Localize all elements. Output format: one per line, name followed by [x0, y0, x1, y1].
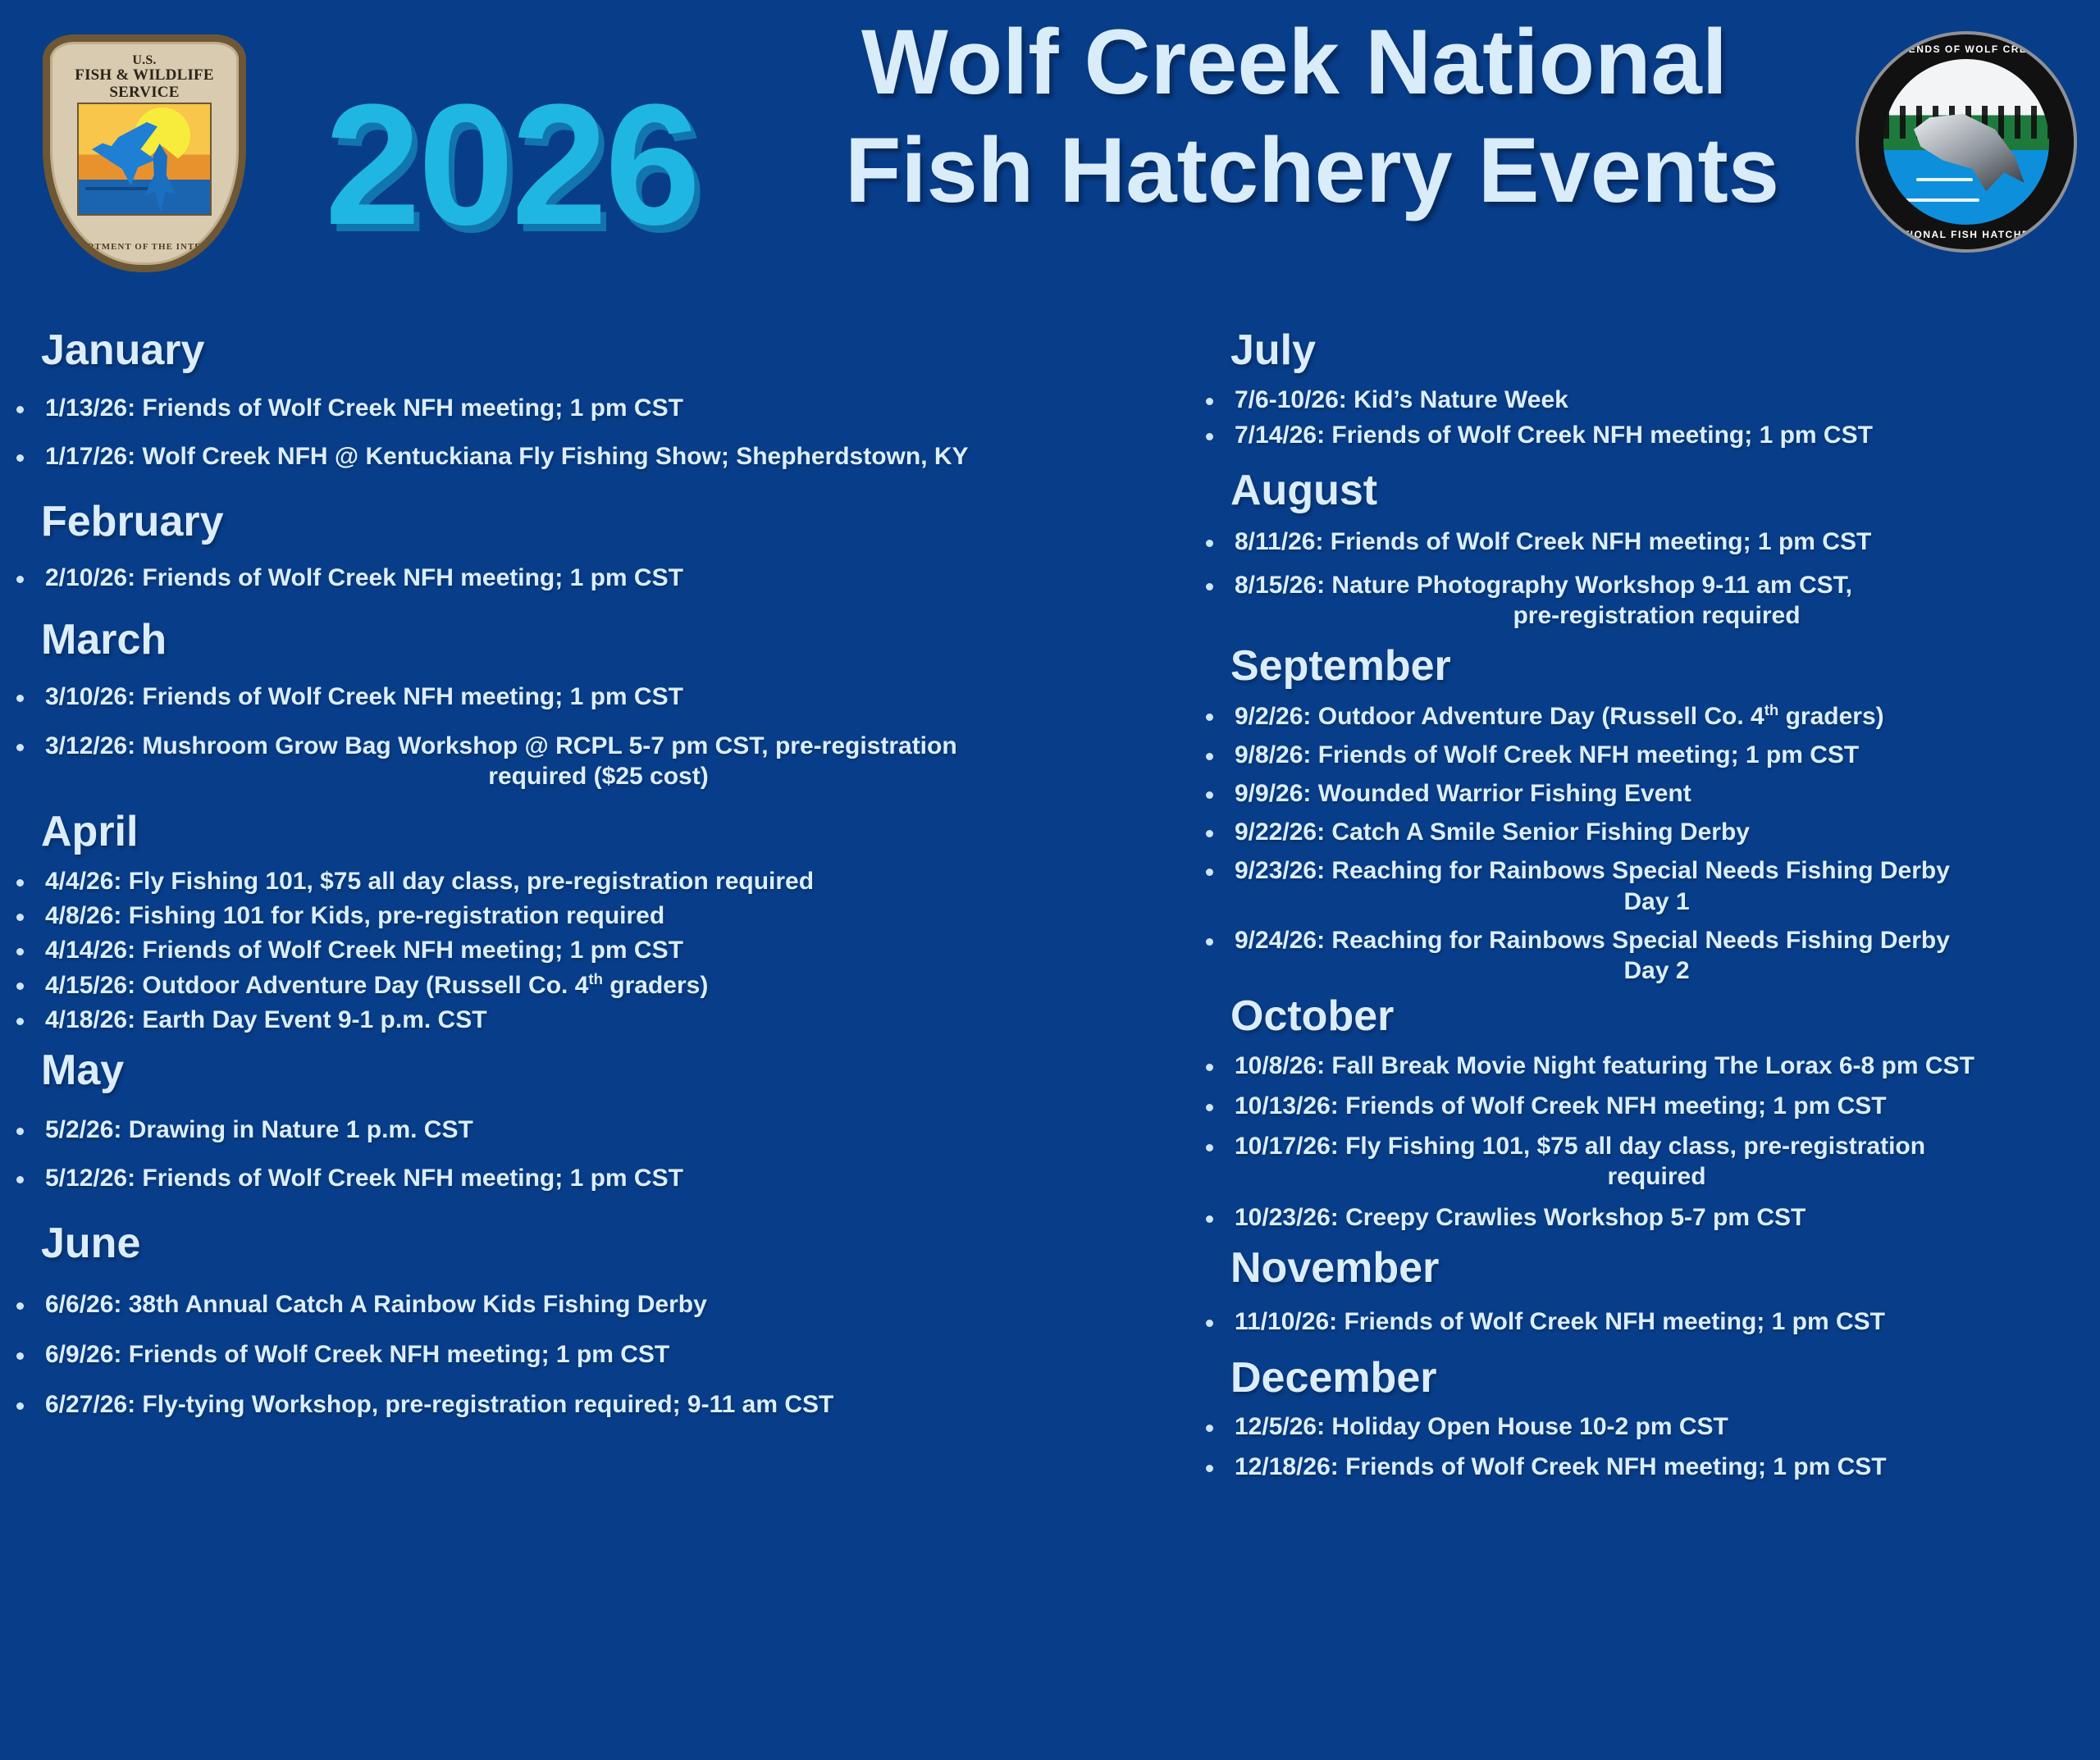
event-item[interactable]: 10/13/26: Friends of Wolf Creek NFH meet…	[1189, 1091, 2100, 1121]
event-text: 4/15/26: Outdoor Adventure Day (Russell …	[45, 972, 588, 999]
month-section-april: April4/4/26: Fly Fishing 101, $75 all da…	[0, 809, 1173, 1036]
month-heading-august: August	[1189, 468, 2100, 513]
event-item[interactable]: 6/9/26: Friends of Wolf Creek NFH meetin…	[0, 1339, 1173, 1370]
event-text: 1/13/26: Friends of Wolf Creek NFH meeti…	[45, 394, 683, 422]
event-list-july: 7/6-10/26: Kid’s Nature Week7/14/26: Fri…	[1189, 385, 2100, 450]
event-text: 10/8/26: Fall Break Movie Night featurin…	[1235, 1052, 1974, 1079]
events-column-right: July7/6-10/26: Kid’s Nature Week7/14/26:…	[1189, 328, 2100, 1493]
event-text: 4/18/26: Earth Day Event 9-1 p.m. CST	[45, 1006, 487, 1033]
event-text: 10/17/26: Fly Fishing 101, $75 all day c…	[1235, 1133, 1925, 1160]
event-list-october: 10/8/26: Fall Break Movie Night featurin…	[1189, 1051, 2100, 1233]
event-text: 4/8/26: Fishing 101 for Kids, pre-regist…	[45, 902, 664, 929]
event-item[interactable]: 7/6-10/26: Kid’s Nature Week	[1189, 385, 2100, 415]
fowc-logo-top-text: FRIENDS OF WOLF CREEK	[1859, 43, 2074, 55]
fws-logo-line1: U.S.	[50, 53, 239, 67]
event-text: 5/12/26: Friends of Wolf Creek NFH meeti…	[45, 1165, 683, 1192]
us-fish-and-wildlife-service-logo: U.S. FISH & WILDLIFE SERVICE DEPARTMENT …	[43, 34, 246, 272]
event-text: 11/10/26: Friends of Wolf Creek NFH meet…	[1235, 1308, 1885, 1335]
event-text: 6/9/26: Friends of Wolf Creek NFH meetin…	[45, 1341, 669, 1368]
event-item[interactable]: 8/11/26: Friends of Wolf Creek NFH meeti…	[1189, 527, 2100, 557]
event-list-september: 9/2/26: Outdoor Adventure Day (Russell C…	[1189, 700, 2100, 987]
event-item[interactable]: 9/22/26: Catch A Smile Senior Fishing De…	[1189, 817, 2100, 847]
month-heading-june: June	[0, 1221, 1173, 1266]
month-section-july: July7/6-10/26: Kid’s Nature Week7/14/26:…	[1189, 328, 2100, 450]
poster-header: U.S. FISH & WILDLIFE SERVICE DEPARTMENT …	[0, 0, 2100, 320]
event-item[interactable]: 9/8/26: Friends of Wolf Creek NFH meetin…	[1189, 740, 2100, 770]
event-text: 2/10/26: Friends of Wolf Creek NFH meeti…	[45, 564, 683, 591]
month-heading-november: November	[1189, 1246, 2100, 1291]
event-text-continuation: required	[1235, 1161, 2100, 1192]
ordinal-suffix: th	[1764, 701, 1779, 718]
event-item[interactable]: 1/13/26: Friends of Wolf Creek NFH meeti…	[0, 393, 1173, 423]
event-item[interactable]: 4/8/26: Fishing 101 for Kids, pre-regist…	[0, 901, 1173, 931]
event-text-continuation: Day 2	[1235, 955, 2100, 986]
month-section-june: June6/6/26: 38th Annual Catch A Rainbow …	[0, 1221, 1173, 1420]
event-text: 9/23/26: Reaching for Rainbows Special N…	[1235, 857, 1950, 884]
event-item[interactable]: 6/27/26: Fly-tying Workshop, pre-registr…	[0, 1389, 1173, 1420]
event-item[interactable]: 2/10/26: Friends of Wolf Creek NFH meeti…	[0, 563, 1173, 593]
event-item[interactable]: 10/8/26: Fall Break Movie Night featurin…	[1189, 1051, 2100, 1081]
event-list-may: 5/2/26: Drawing in Nature 1 p.m. CST5/12…	[0, 1115, 1173, 1193]
month-heading-december: December	[1189, 1356, 2100, 1401]
event-item[interactable]: 9/23/26: Reaching for Rainbows Special N…	[1189, 855, 2100, 916]
event-list-february: 2/10/26: Friends of Wolf Creek NFH meeti…	[0, 563, 1173, 593]
events-body: January1/13/26: Friends of Wolf Creek NF…	[0, 328, 2100, 1760]
event-list-august: 8/11/26: Friends of Wolf Creek NFH meeti…	[1189, 527, 2100, 632]
event-item[interactable]: 3/12/26: Mushroom Grow Bag Workshop @ RC…	[0, 731, 1173, 791]
fowc-logo-bottom-text: NATIONAL FISH HATCHERY	[1859, 229, 2074, 240]
month-section-may: May 5/2/26: Drawing in Nature 1 p.m. CST…	[0, 1048, 1173, 1193]
event-text: 4/14/26: Friends of Wolf Creek NFH meeti…	[45, 937, 683, 964]
event-item[interactable]: 4/15/26: Outdoor Adventure Day (Russell …	[0, 969, 1173, 1001]
event-text: 9/22/26: Catch A Smile Senior Fishing De…	[1235, 818, 1750, 846]
month-section-november: November 11/10/26: Friends of Wolf Creek…	[1189, 1246, 2100, 1338]
event-item[interactable]: 3/10/26: Friends of Wolf Creek NFH meeti…	[0, 682, 1173, 712]
year-heading: 2026	[325, 79, 698, 251]
event-text: 12/5/26: Holiday Open House 10-2 pm CST	[1235, 1413, 1728, 1440]
event-item[interactable]: 10/23/26: Creepy Crawlies Workshop 5-7 p…	[1189, 1202, 2100, 1233]
event-text: 10/23/26: Creepy Crawlies Workshop 5-7 p…	[1235, 1204, 1806, 1231]
event-list-november: 11/10/26: Friends of Wolf Creek NFH meet…	[1189, 1306, 2100, 1337]
event-item[interactable]: 6/6/26: 38th Annual Catch A Rainbow Kids…	[0, 1289, 1173, 1320]
event-text-tail: graders)	[603, 972, 708, 999]
month-heading-january: January	[0, 328, 1173, 373]
wave-icon	[1903, 198, 1979, 202]
event-text-continuation: Day 1	[1235, 887, 2100, 917]
event-item[interactable]: 4/4/26: Fly Fishing 101, $75 all day cla…	[0, 866, 1173, 896]
event-text: 6/6/26: 38th Annual Catch A Rainbow Kids…	[45, 1291, 707, 1318]
page-title: Wolf Creek National Fish Hatchery Events	[845, 8, 1854, 225]
events-column-left: January1/13/26: Friends of Wolf Creek NF…	[0, 328, 1173, 1440]
month-heading-february: February	[0, 499, 1173, 545]
month-heading-july: July	[1189, 328, 2100, 373]
month-section-january: January1/13/26: Friends of Wolf Creek NF…	[0, 328, 1173, 472]
event-text: 7/14/26: Friends of Wolf Creek NFH meeti…	[1235, 422, 1873, 449]
shield-icon: U.S. FISH & WILDLIFE SERVICE DEPARTMENT …	[43, 34, 246, 272]
ordinal-suffix: th	[588, 970, 603, 987]
event-list-april: 4/4/26: Fly Fishing 101, $75 all day cla…	[0, 866, 1173, 1036]
seal-ring: FRIENDS OF WOLF CREEK NATIONAL FISH HATC…	[1856, 31, 2077, 253]
event-text-tail: graders)	[1778, 703, 1883, 730]
event-item[interactable]: 9/24/26: Reaching for Rainbows Special N…	[1189, 925, 2100, 986]
event-text: 8/11/26: Friends of Wolf Creek NFH meeti…	[1235, 528, 1871, 555]
event-item[interactable]: 5/2/26: Drawing in Nature 1 p.m. CST	[0, 1115, 1173, 1145]
month-heading-march: March	[0, 618, 1173, 663]
event-item[interactable]: 4/14/26: Friends of Wolf Creek NFH meeti…	[0, 935, 1173, 965]
event-text: 4/4/26: Fly Fishing 101, $75 all day cla…	[45, 868, 814, 895]
month-section-march: March3/10/26: Friends of Wolf Creek NFH …	[0, 618, 1173, 791]
fws-logo-line3: SERVICE	[50, 84, 239, 102]
month-heading-may: May	[0, 1048, 1173, 1093]
event-text: 9/24/26: Reaching for Rainbows Special N…	[1235, 927, 1950, 954]
event-list-june: 6/6/26: 38th Annual Catch A Rainbow Kids…	[0, 1289, 1173, 1420]
month-section-december: December 12/5/26: Holiday Open House 10-…	[1189, 1356, 2100, 1483]
event-text: 12/18/26: Friends of Wolf Creek NFH meet…	[1235, 1453, 1887, 1480]
event-text: 10/13/26: Friends of Wolf Creek NFH meet…	[1235, 1092, 1887, 1119]
seal-scene	[1883, 59, 2049, 225]
month-section-august: August8/11/26: Friends of Wolf Creek NFH…	[1189, 468, 2100, 631]
event-list-march: 3/10/26: Friends of Wolf Creek NFH meeti…	[0, 682, 1173, 791]
event-item[interactable]: 12/18/26: Friends of Wolf Creek NFH meet…	[1189, 1452, 2100, 1482]
event-text: 9/9/26: Wounded Warrior Fishing Event	[1235, 780, 1691, 807]
event-item[interactable]: 11/10/26: Friends of Wolf Creek NFH meet…	[1189, 1306, 2100, 1337]
event-text: 3/10/26: Friends of Wolf Creek NFH meeti…	[45, 683, 683, 710]
page-title-line1: Wolf Creek National	[845, 8, 1854, 116]
event-item[interactable]: 8/15/26: Nature Photography Workshop 9-1…	[1189, 570, 2100, 631]
month-section-september: September9/2/26: Outdoor Adventure Day (…	[1189, 644, 2100, 986]
friends-of-wolf-creek-nfh-logo: FRIENDS OF WOLF CREEK NATIONAL FISH HATC…	[1856, 31, 2077, 253]
fws-landscape-scene	[77, 103, 212, 216]
event-text: 1/17/26: Wolf Creek NFH @ Kentuckiana Fl…	[45, 443, 969, 470]
event-item[interactable]: 9/2/26: Outdoor Adventure Day (Russell C…	[1189, 700, 2100, 732]
event-text-continuation: required ($25 cost)	[45, 761, 1173, 791]
water-icon	[79, 180, 210, 214]
month-section-february: February2/10/26: Friends of Wolf Creek N…	[0, 499, 1173, 593]
event-item[interactable]: 9/9/26: Wounded Warrior Fishing Event	[1189, 778, 2100, 809]
event-item[interactable]: 1/17/26: Wolf Creek NFH @ Kentuckiana Fl…	[0, 441, 1173, 472]
event-text-continuation: pre-registration required	[1235, 600, 2100, 631]
fws-logo-line2: FISH & WILDLIFE	[50, 67, 239, 84]
event-text: 5/2/26: Drawing in Nature 1 p.m. CST	[45, 1116, 473, 1143]
event-item[interactable]: 10/17/26: Fly Fishing 101, $75 all day c…	[1189, 1131, 2100, 1192]
fws-logo-bottom-text: DEPARTMENT OF THE INTERIOR	[50, 242, 239, 252]
month-heading-october: October	[1189, 994, 2100, 1039]
event-text: 6/27/26: Fly-tying Workshop, pre-registr…	[45, 1391, 833, 1418]
event-text: 7/6-10/26: Kid’s Nature Week	[1235, 386, 1568, 413]
event-item[interactable]: 7/14/26: Friends of Wolf Creek NFH meeti…	[1189, 420, 2100, 450]
fws-logo-text: U.S. FISH & WILDLIFE SERVICE	[50, 53, 239, 101]
event-item[interactable]: 5/12/26: Friends of Wolf Creek NFH meeti…	[0, 1163, 1173, 1193]
event-item[interactable]: 12/5/26: Holiday Open House 10-2 pm CST	[1189, 1411, 2100, 1442]
event-list-january: 1/13/26: Friends of Wolf Creek NFH meeti…	[0, 393, 1173, 472]
event-text: 8/15/26: Nature Photography Workshop 9-1…	[1235, 572, 1852, 599]
event-item[interactable]: 4/18/26: Earth Day Event 9-1 p.m. CST	[0, 1005, 1173, 1035]
month-section-october: October 10/8/26: Fall Break Movie Night …	[1189, 994, 2100, 1233]
event-list-december: 12/5/26: Holiday Open House 10-2 pm CST …	[1189, 1411, 2100, 1482]
month-heading-april: April	[0, 809, 1173, 855]
page-title-line2: Fish Hatchery Events	[845, 116, 1854, 225]
event-text: 9/8/26: Friends of Wolf Creek NFH meetin…	[1235, 741, 1859, 768]
event-text: 9/2/26: Outdoor Adventure Day (Russell C…	[1235, 703, 1764, 730]
wave-icon-2	[1916, 178, 1973, 181]
month-heading-september: September	[1189, 644, 2100, 689]
event-text: 3/12/26: Mushroom Grow Bag Workshop @ RC…	[45, 732, 957, 759]
